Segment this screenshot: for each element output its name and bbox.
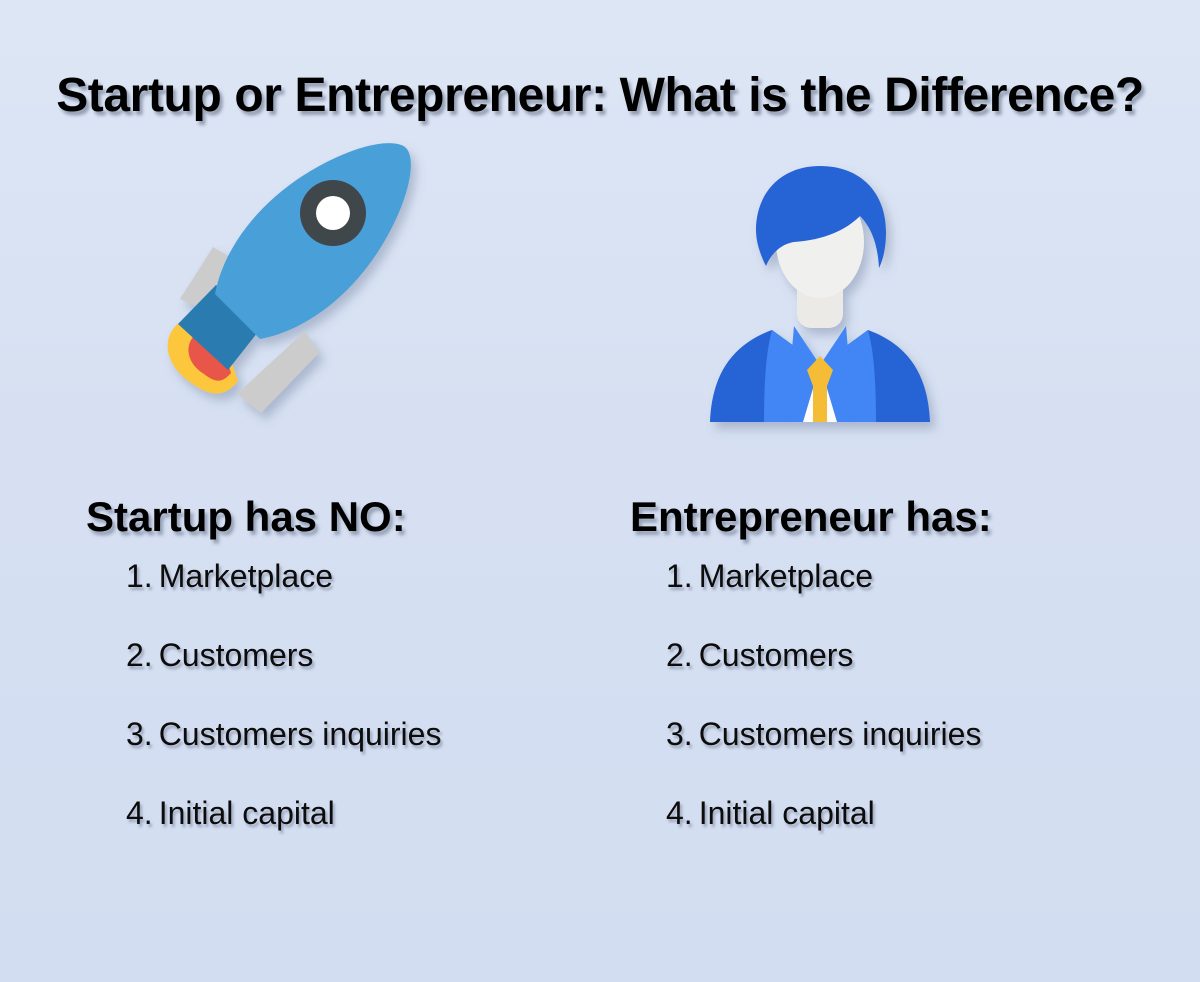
list-item: 4.Initial capital bbox=[588, 793, 1128, 872]
rocket-icon bbox=[120, 126, 440, 446]
businessman-icon-graphic bbox=[690, 150, 950, 440]
column-startup: Startup has NO: 1.Marketplace 2.Customer… bbox=[48, 492, 588, 872]
list-item: 2.Customers bbox=[588, 635, 1128, 714]
list-item-number: 4. bbox=[666, 795, 693, 831]
list-item-label: Marketplace bbox=[699, 558, 873, 594]
column-heading-startup: Startup has NO: bbox=[48, 492, 588, 542]
list-entrepreneur: 1.Marketplace 2.Customers 3.Customers in… bbox=[588, 556, 1128, 872]
list-item-number: 1. bbox=[126, 558, 153, 594]
list-item: 4.Initial capital bbox=[48, 793, 588, 872]
list-item-label: Customers inquiries bbox=[699, 716, 982, 752]
list-item-number: 3. bbox=[666, 716, 693, 752]
list-item-label: Customers bbox=[699, 637, 854, 673]
column-heading-entrepreneur: Entrepreneur has: bbox=[588, 492, 1128, 542]
list-item-label: Customers bbox=[159, 637, 314, 673]
rocket-icon-graphic bbox=[120, 126, 440, 446]
comparison-columns: Startup has NO: 1.Marketplace 2.Customer… bbox=[0, 492, 1200, 962]
list-item: 1.Marketplace bbox=[588, 556, 1128, 635]
list-item-label: Marketplace bbox=[159, 558, 333, 594]
column-entrepreneur: Entrepreneur has: 1.Marketplace 2.Custom… bbox=[588, 492, 1128, 872]
page-title: Startup or Entrepreneur: What is the Dif… bbox=[0, 68, 1200, 124]
list-item: 3.Customers inquiries bbox=[48, 714, 588, 793]
list-item-number: 2. bbox=[126, 637, 153, 673]
list-item: 2.Customers bbox=[48, 635, 588, 714]
list-startup: 1.Marketplace 2.Customers 3.Customers in… bbox=[48, 556, 588, 872]
illustration-row bbox=[0, 118, 1200, 448]
list-item-label: Customers inquiries bbox=[159, 716, 442, 752]
list-item: 3.Customers inquiries bbox=[588, 714, 1128, 793]
businessman-icon bbox=[690, 150, 950, 440]
slide-canvas: Startup or Entrepreneur: What is the Dif… bbox=[0, 0, 1200, 982]
list-item-label: Initial capital bbox=[699, 795, 875, 831]
list-item-number: 3. bbox=[126, 716, 153, 752]
list-item: 1.Marketplace bbox=[48, 556, 588, 635]
list-item-number: 2. bbox=[666, 637, 693, 673]
list-item-label: Initial capital bbox=[159, 795, 335, 831]
list-item-number: 1. bbox=[666, 558, 693, 594]
list-item-number: 4. bbox=[126, 795, 153, 831]
